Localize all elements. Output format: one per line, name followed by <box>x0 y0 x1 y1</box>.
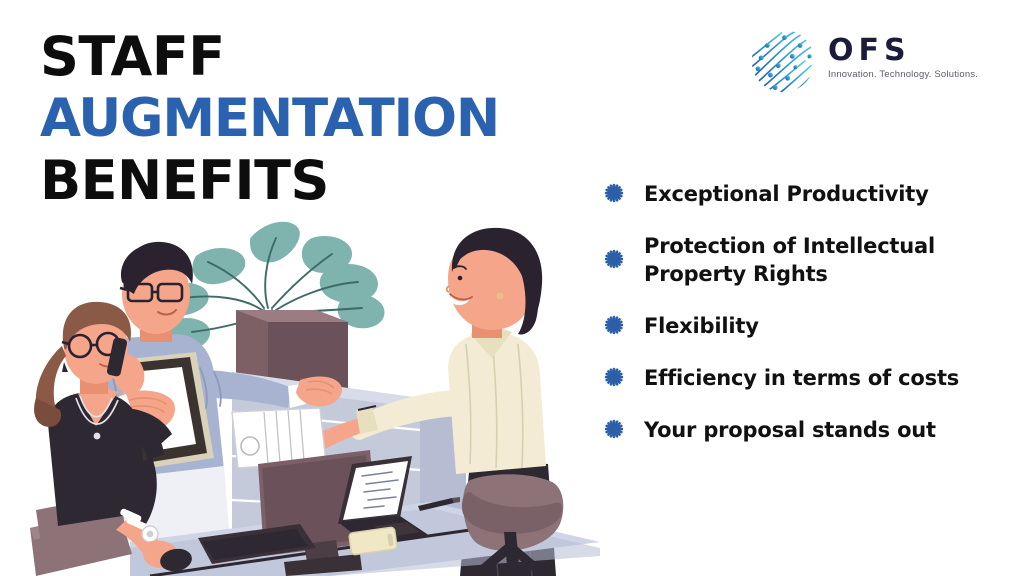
logo-text: OFS Innovation. Technology. Solutions. <box>828 35 978 88</box>
asterisk-starburst-icon <box>604 367 624 387</box>
list-item[interactable]: Flexibility <box>604 312 1016 340</box>
list-item-label: Exceptional Productivity <box>644 180 929 208</box>
asterisk-starburst-icon <box>604 183 624 203</box>
asterisk-starburst-icon <box>604 249 624 269</box>
office-team-illustration <box>0 212 600 576</box>
list-item-label: Protection of Intellectual Property Righ… <box>644 232 1016 288</box>
benefits-list: Exceptional Productivity <box>604 180 1016 444</box>
title-line-2: AUGMENTATION <box>40 88 560 150</box>
list-item-label: Flexibility <box>644 312 759 340</box>
asterisk-starburst-icon <box>604 315 624 335</box>
list-item[interactable]: Your proposal stands out <box>604 416 1016 444</box>
logo-tagline: Innovation. Technology. Solutions. <box>828 68 978 82</box>
list-item-label: Efficiency in terms of costs <box>644 364 959 392</box>
list-item-label: Your proposal stands out <box>644 416 936 444</box>
list-item[interactable]: Exceptional Productivity <box>604 180 1016 208</box>
globe-circuit-icon <box>744 22 822 100</box>
list-item[interactable]: Efficiency in terms of costs <box>604 364 1016 392</box>
asterisk-starburst-icon <box>604 419 624 439</box>
page-title: STAFF AUGMENTATION BENEFITS <box>40 26 560 212</box>
title-line-1: STAFF <box>40 26 560 88</box>
slide-canvas: STAFF AUGMENTATION BENEFITS <box>0 0 1024 576</box>
list-item[interactable]: Protection of Intellectual Property Righ… <box>604 232 1016 288</box>
title-line-3: BENEFITS <box>40 150 560 212</box>
logo-wordmark: OFS <box>828 35 978 67</box>
brand-logo[interactable]: OFS Innovation. Technology. Solutions. <box>744 18 996 104</box>
